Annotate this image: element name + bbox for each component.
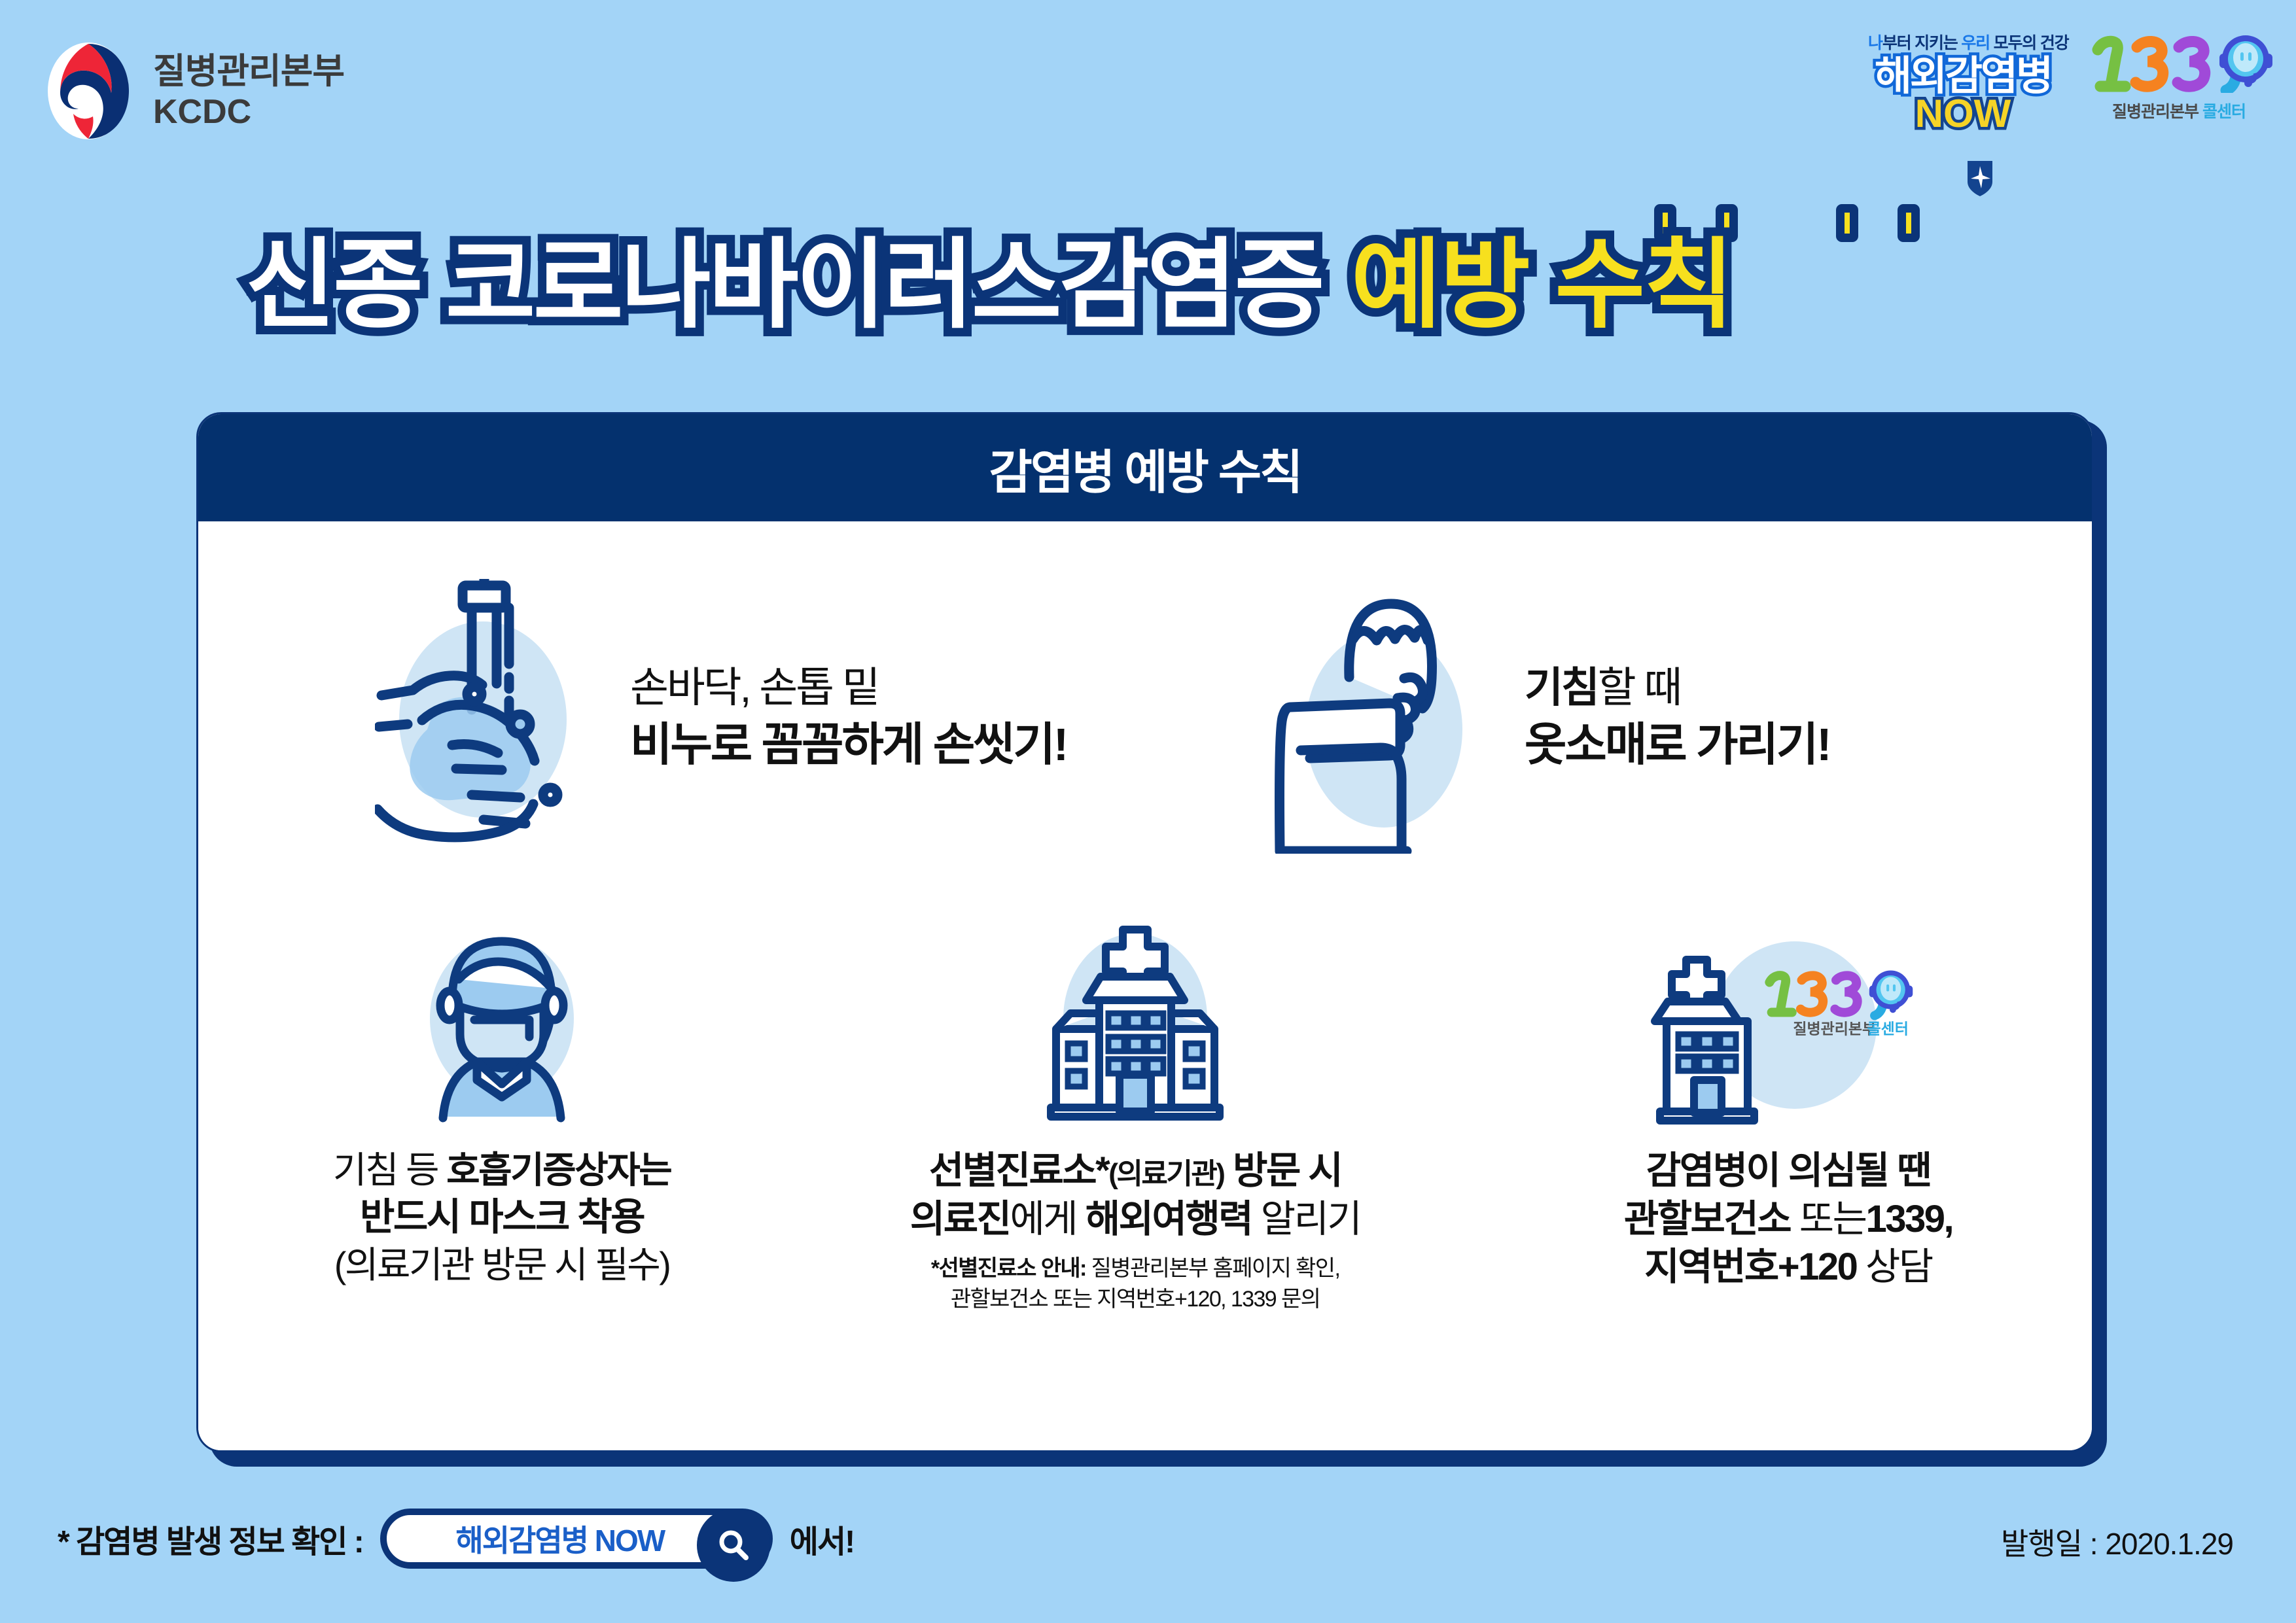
footer-suffix: 에서!	[790, 1516, 854, 1562]
hospital-and-1339-icon: 질병관리본부 콜센터	[1485, 914, 2092, 1130]
kcdc-korean-name: 질병관리본부	[153, 53, 344, 90]
item-clinic-line2: 의료진에게 해외여행력 알리기	[786, 1195, 1485, 1244]
prevention-card: 감염병 예방 수칙	[196, 412, 2094, 1452]
person-wearing-mask-icon	[218, 914, 786, 1130]
item-screening-clinic: 선별진료소*(의료기관) 방문 시 의료진에게 해외여행력 알리기 *선별진료소…	[786, 914, 1485, 1437]
top-items-row: 손바닥, 손톱 밑 비누로 꼼꼼하게 손씻기!	[198, 521, 2092, 914]
bottom-items-row: 기침 등 호흡기증상자는 반드시 마스크 착용 (의료기관 방문 시 필수)	[198, 914, 2092, 1437]
item-1339-line1: 감염병이 의심될 땐	[1485, 1147, 2092, 1195]
item-1339-line2: 관할보건소 또는1339,	[1485, 1195, 2092, 1244]
item-cough-line2: 옷소매로 가리기!	[1525, 715, 1830, 775]
emphasis-dot	[1836, 204, 1858, 242]
call-center-1339-logo: 질병관리본부 콜센터	[2081, 30, 2277, 122]
item-clinic-line1: 선별진료소*(의료기관) 방문 시	[786, 1147, 1485, 1195]
call-center-subtitle: 질병관리본부 콜센터	[2081, 99, 2277, 122]
publish-date: 발행일 : 2020.1.29	[2001, 1520, 2233, 1563]
svg-text:콜센터: 콜센터	[1867, 1020, 1909, 1037]
search-box[interactable]: 해외감염병 NOW	[380, 1509, 773, 1569]
item-handwashing-line2: 비누로 꼼꼼하게 손씻기!	[630, 715, 1067, 775]
svg-text:질병관리본부: 질병관리본부	[1793, 1020, 1876, 1037]
airplane-shield-icon	[1965, 158, 1995, 199]
now-logo-word: NOW	[1868, 94, 2058, 133]
haewoe-now-logo: 나부터 지키는 우리 모두의 건강 해외감염병 NOW	[1868, 30, 2058, 133]
korea-government-taegeuk-icon	[46, 41, 131, 142]
search-term: 해외감염병 NOW	[455, 1517, 664, 1560]
item-handwashing: 손바닥, 손톱 밑 비누로 꼼꼼하게 손씻기!	[198, 521, 1191, 914]
hospital-building-icon	[786, 914, 1485, 1130]
top-bar: 질병관리본부 KCDC 나부터 지키는 우리 모두의 건강 해외감염병 NOW	[0, 0, 2296, 170]
item-mask-line2: 반드시 마스크 착용	[218, 1193, 786, 1242]
item-1339-line3: 지역번호+120 상담	[1485, 1243, 2092, 1291]
item-handwashing-line1: 손바닥, 손톱 밑	[630, 661, 1067, 715]
card-header: 감염병 예방 수칙	[198, 414, 2092, 521]
item-cough-sleeve: 기침할 때 옷소매로 가리기!	[1191, 521, 2092, 914]
infographic-page: 질병관리본부 KCDC 나부터 지키는 우리 모두의 건강 해외감염병 NOW	[0, 0, 2296, 1623]
card-header-title: 감염병 예방 수칙	[989, 434, 1301, 502]
emphasis-dot	[1898, 204, 1920, 242]
item-cough-line1: 기침할 때	[1525, 661, 1830, 715]
item-mask-line3: (의료기관 방문 시 필수)	[218, 1242, 786, 1288]
main-title-area: 신종 코로나바이러스감염증 예방 수칙	[0, 196, 2296, 386]
footer-label: * 감염병 발생 정보 확인 :	[58, 1516, 363, 1562]
handwashing-icon	[375, 579, 591, 857]
card-body: 손바닥, 손톱 밑 비누로 꼼꼼하게 손씻기!	[198, 521, 2092, 1452]
1339-number-icon	[2081, 30, 2277, 93]
item-call-1339: 질병관리본부 콜센터 감염병이 의심될 땐 관할보건소 또는1339, 지역번호…	[1485, 914, 2092, 1437]
item-mask-line1: 기침 등 호흡기증상자는	[218, 1147, 786, 1193]
item-wear-mask: 기침 등 호흡기증상자는 반드시 마스크 착용 (의료기관 방문 시 필수)	[198, 914, 786, 1437]
now-logo-main-text: 해외감염병	[1868, 56, 2058, 97]
kcdc-english-name: KCDC	[153, 94, 344, 130]
item-clinic-footnote: *선별진료소 안내: 질병관리본부 홈페이지 확인, 관할보건소 또는 지역번호…	[786, 1253, 1485, 1315]
now-logo-tagline: 나부터 지키는 우리 모두의 건강	[1868, 30, 2058, 54]
page-title-primary: 신종 코로나바이러스감염증	[245, 236, 1322, 334]
kcdc-logo: 질병관리본부 KCDC	[46, 41, 344, 142]
footer: * 감염병 발생 정보 확인 : 해외감염병 NOW 에서! 발행일 : 202…	[0, 1493, 2296, 1591]
magnifier-icon[interactable]	[697, 1509, 770, 1582]
page-title-highlight: 예방 수칙	[1351, 236, 1733, 334]
cough-into-sleeve-icon	[1269, 579, 1485, 857]
